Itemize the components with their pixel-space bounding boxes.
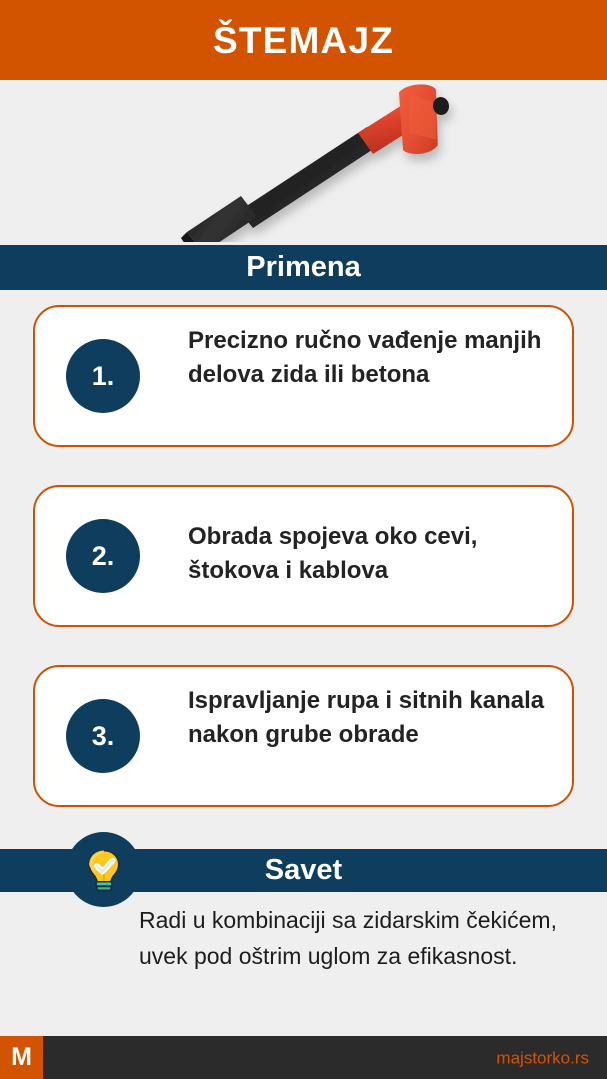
- application-text-1: Precizno ručno vađenje manjih delova zid…: [188, 324, 554, 392]
- application-card: 3. Ispravljanje rupa i sitnih kanala nak…: [33, 665, 574, 807]
- savet-section-title: Savet: [265, 856, 342, 885]
- primena-section-bar: Primena: [0, 245, 607, 290]
- savet-tip-text: Radi u kombinaciji sa zidarskim čekićem,…: [139, 902, 569, 975]
- application-text-3: Ispravljanje rupa i sitnih kanala nakon …: [188, 684, 554, 752]
- brand-logo: M: [0, 1036, 43, 1079]
- primena-section-title: Primena: [246, 253, 360, 282]
- step-badge-2: 2.: [66, 519, 140, 593]
- page-title: ŠTEMAJZ: [213, 22, 394, 59]
- step-badge-1: 1.: [66, 339, 140, 413]
- application-text-2: Obrada spojeva oko cevi, štokova i kablo…: [188, 520, 554, 588]
- lightbulb-check-icon: [79, 845, 129, 895]
- masonry-chisel-image: [145, 84, 465, 242]
- footer-bar: M majstorko.rs: [0, 1036, 607, 1079]
- step-badge-3: 3.: [66, 699, 140, 773]
- footer-website-link[interactable]: majstorko.rs: [496, 1049, 589, 1066]
- application-card: 1. Precizno ručno vađenje manjih delova …: [33, 305, 574, 447]
- header-bar: ŠTEMAJZ: [0, 0, 607, 80]
- product-image-area: [0, 82, 607, 245]
- application-card: 2. Obrada spojeva oko cevi, štokova i ka…: [33, 485, 574, 627]
- savet-icon-badge: [66, 832, 141, 907]
